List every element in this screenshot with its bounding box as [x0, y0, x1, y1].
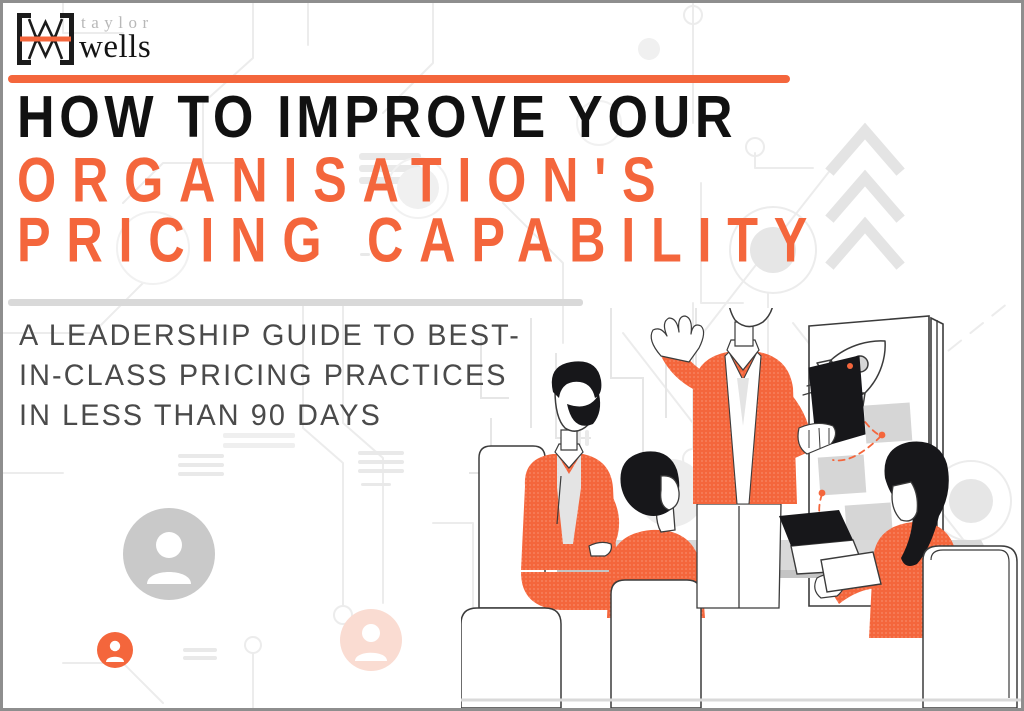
- grey-divider-rule: [8, 299, 583, 306]
- page-title: HOW TO IMPROVE YOUR ORGANISATION'S PRICI…: [17, 87, 913, 265]
- headline-line-2: ORGANISATION'S: [17, 149, 823, 212]
- avatar-small-orange-icon: [97, 632, 133, 668]
- ebook-cover: taylor wells HOW TO IMPROVE YOUR ORGANIS…: [0, 0, 1024, 711]
- headline-line-3: PRICING CAPABILITY: [17, 209, 823, 272]
- tablet-on-table: [821, 552, 881, 592]
- subtitle: A LEADERSHIP GUIDE TO BEST- IN-CLASS PRI…: [19, 316, 521, 436]
- avatar-large-grey-icon: [123, 508, 215, 600]
- chair-far-left: [461, 608, 561, 708]
- logo-wells-text: wells: [79, 32, 154, 63]
- brand-logo[interactable]: taylor wells: [17, 13, 154, 65]
- headline-line-1: HOW TO IMPROVE YOUR: [17, 87, 850, 146]
- logo-mark-wm-icon: [17, 13, 77, 65]
- team-meeting-illustration: [461, 308, 1021, 708]
- subtitle-line-3: IN LESS THAN 90 DAYS: [19, 396, 521, 436]
- person-bearded-man: [521, 361, 621, 610]
- chair-right: [923, 546, 1017, 708]
- avatar-medium-peach-icon: [340, 609, 402, 671]
- chair-center: [611, 580, 701, 708]
- subtitle-line-2: IN-CLASS PRICING PRACTICES: [19, 356, 521, 396]
- subtitle-line-1: A LEADERSHIP GUIDE TO BEST-: [19, 316, 521, 356]
